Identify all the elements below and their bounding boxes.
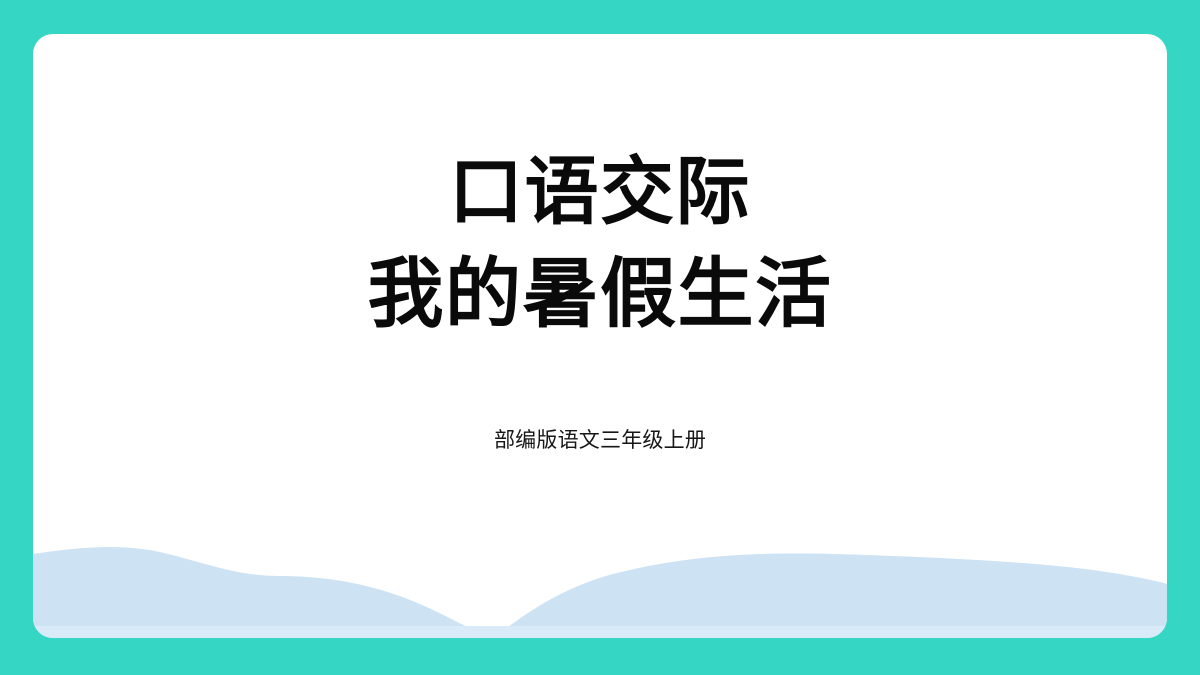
- mid-hills-shape: [33, 547, 1167, 638]
- subtitle-text: 部编版语文三年级上册: [33, 424, 1167, 454]
- hill-highlight-band: [33, 626, 1167, 638]
- hills-decoration: [33, 458, 1167, 638]
- back-hills-shape: [33, 547, 493, 638]
- front-hills-shape: [493, 554, 1167, 638]
- slide-canvas: 口语交际 我的暑假生活 部编版语文三年级上册: [0, 0, 1200, 675]
- title-line-2: 我的暑假生活: [33, 256, 1167, 332]
- slide-card: 口语交际 我的暑假生活 部编版语文三年级上册: [33, 34, 1167, 638]
- title-line-1: 口语交际: [33, 155, 1167, 229]
